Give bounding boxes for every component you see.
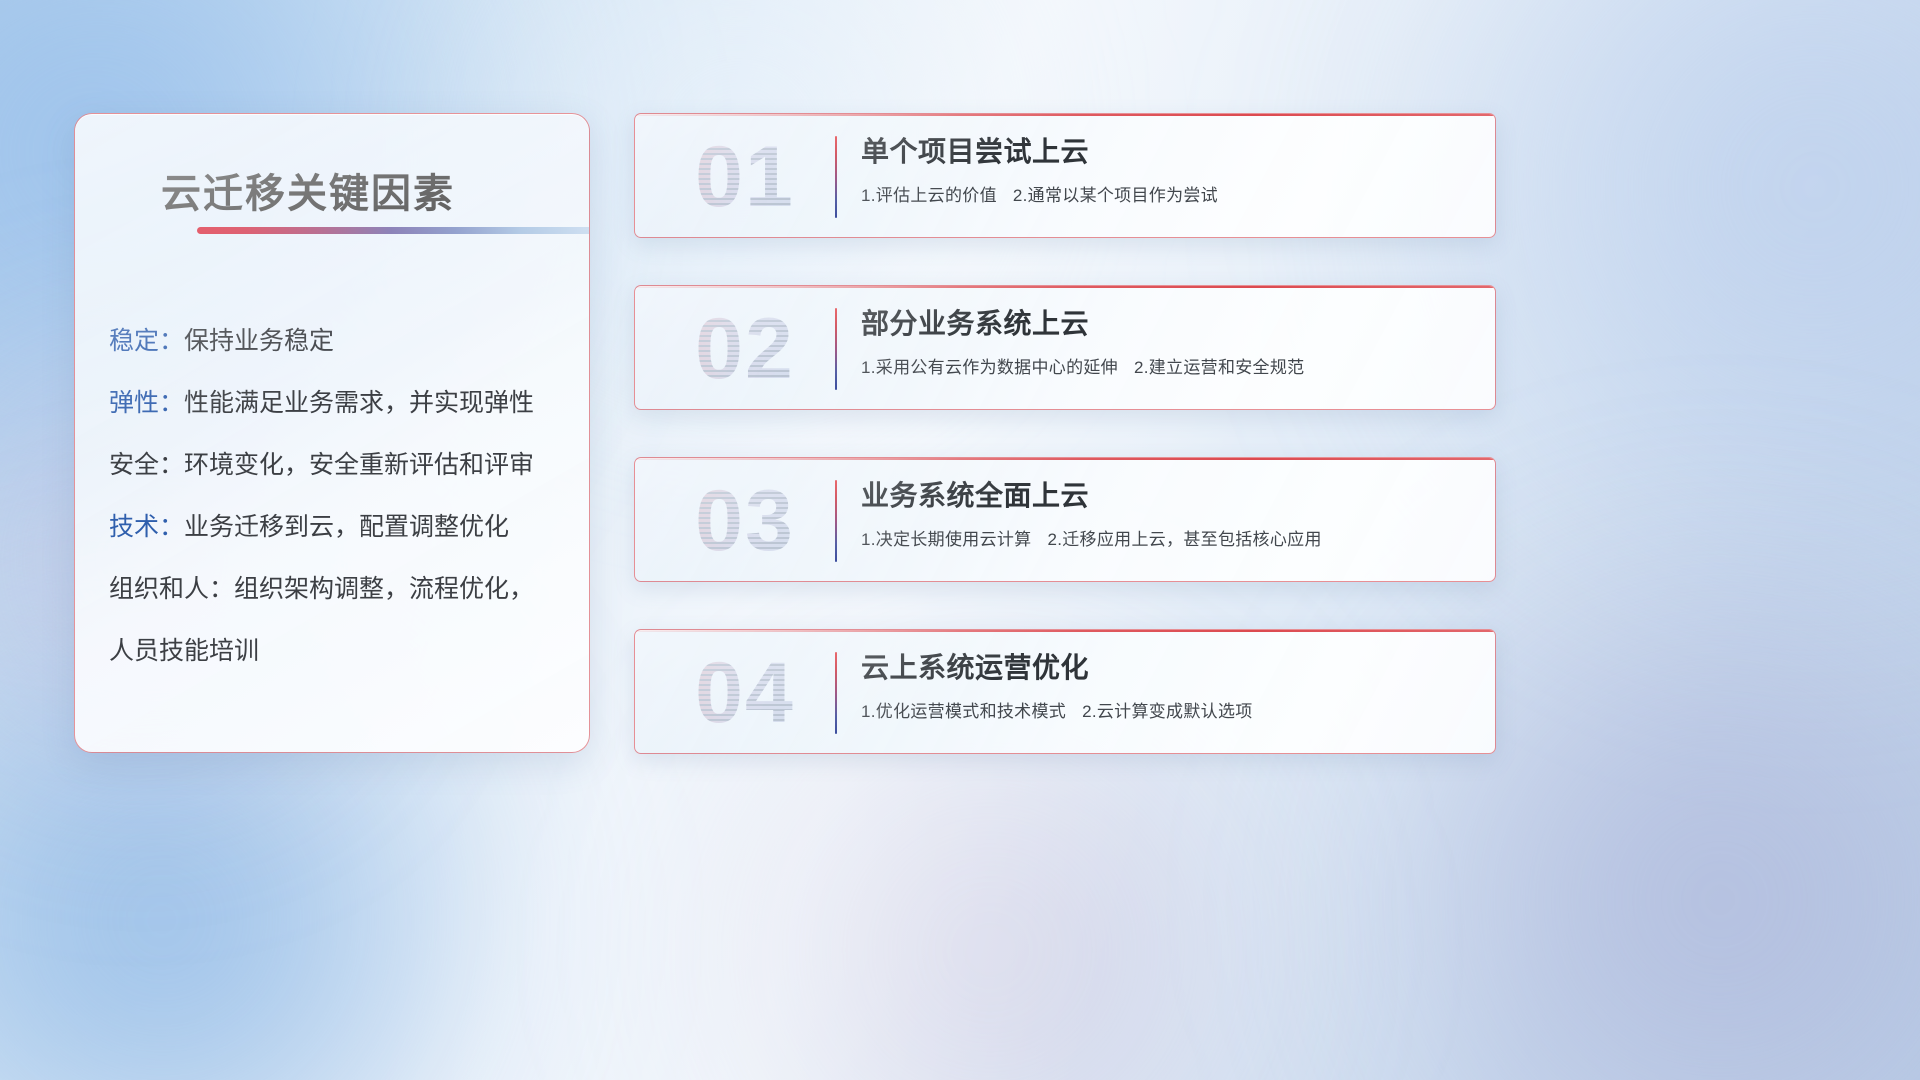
step-body-04: 云上系统运营优化 1.优化运营模式和技术模式2.云计算变成默认选项 [861, 646, 1471, 725]
step-card-01[interactable]: 01 单个项目尝试上云 1.评估上云的价值2.通常以某个项目作为尝试 [634, 113, 1496, 238]
step-title-04: 云上系统运营优化 [861, 646, 1471, 690]
factor-row: 稳定：保持业务稳定 [109, 310, 553, 372]
step-desc-03: 1.决定长期使用云计算2.迁移应用上云，甚至包括核心应用 [861, 527, 1471, 553]
step-card-04[interactable]: 04 云上系统运营优化 1.优化运营模式和技术模式2.云计算变成默认选项 [634, 629, 1496, 754]
title-underline-gradient [197, 227, 590, 234]
factor-label: 稳定： [109, 327, 184, 355]
step-desc-02: 1.采用公有云作为数据中心的延伸2.建立运营和安全规范 [861, 355, 1471, 381]
step-desc-item-02-1: 1.采用公有云作为数据中心的延伸 [861, 358, 1118, 377]
step-desc-04: 1.优化运营模式和技术模式2.云计算变成默认选项 [861, 699, 1471, 725]
step-number-watermark-02: 02 [669, 300, 821, 398]
factor-label: 技术： [109, 513, 184, 541]
factor-label: 弹性： [109, 389, 184, 417]
factor-row: 弹性：性能满足业务需求，并实现弹性 [109, 372, 553, 434]
factor-text: 保持业务稳定 [184, 327, 334, 355]
factor-row: 技术：业务迁移到云，配置调整优化 [109, 496, 553, 558]
step-desc-item-01-2: 2.通常以某个项目作为尝试 [1013, 186, 1218, 205]
step-title-02: 部分业务系统上云 [861, 302, 1471, 346]
step-desc-item-03-1: 1.决定长期使用云计算 [861, 530, 1031, 549]
step-divider-01 [835, 136, 837, 218]
step-desc-item-01-1: 1.评估上云的价值 [861, 186, 997, 205]
step-body-02: 部分业务系统上云 1.采用公有云作为数据中心的延伸2.建立运营和安全规范 [861, 302, 1471, 381]
step-body-01: 单个项目尝试上云 1.评估上云的价值2.通常以某个项目作为尝试 [861, 130, 1471, 209]
step-desc-item-04-1: 1.优化运营模式和技术模式 [861, 702, 1066, 721]
step-number-watermark-03: 03 [669, 472, 821, 570]
key-factors-list: 稳定：保持业务稳定弹性：性能满足业务需求，并实现弹性安全：环境变化，安全重新评估… [75, 310, 589, 682]
page-title: 云迁移关键因素 [161, 161, 455, 219]
factor-row: 安全：环境变化，安全重新评估和评审 [109, 434, 553, 496]
step-desc-item-04-2: 2.云计算变成默认选项 [1082, 702, 1252, 721]
factor-text: 人员技能培训 [109, 637, 259, 665]
step-card-03[interactable]: 03 业务系统全面上云 1.决定长期使用云计算2.迁移应用上云，甚至包括核心应用 [634, 457, 1496, 582]
step-desc-item-02-2: 2.建立运营和安全规范 [1134, 358, 1304, 377]
factor-row: 人员技能培训 [109, 620, 553, 682]
factor-label: 安全： [109, 451, 184, 479]
step-desc-01: 1.评估上云的价值2.通常以某个项目作为尝试 [861, 183, 1471, 209]
step-body-03: 业务系统全面上云 1.决定长期使用云计算2.迁移应用上云，甚至包括核心应用 [861, 474, 1471, 553]
step-card-02[interactable]: 02 部分业务系统上云 1.采用公有云作为数据中心的延伸2.建立运营和安全规范 [634, 285, 1496, 410]
step-divider-03 [835, 480, 837, 562]
factor-text: 性能满足业务需求，并实现弹性 [184, 389, 534, 417]
step-title-03: 业务系统全面上云 [861, 474, 1471, 518]
factor-text: 组织架构调整，流程优化， [234, 575, 534, 603]
factor-text: 业务迁移到云，配置调整优化 [184, 513, 509, 541]
slide-stage: 云迁移关键因素 稳定：保持业务稳定弹性：性能满足业务需求，并实现弹性安全：环境变… [0, 0, 1920, 1080]
factor-text: 环境变化，安全重新评估和评审 [184, 451, 534, 479]
step-divider-02 [835, 308, 837, 390]
key-factors-panel: 云迁移关键因素 稳定：保持业务稳定弹性：性能满足业务需求，并实现弹性安全：环境变… [74, 113, 590, 753]
factor-label: 组织和人： [109, 575, 234, 603]
step-number-watermark-04: 04 [669, 644, 821, 742]
step-number-watermark-01: 01 [669, 128, 821, 226]
step-title-01: 单个项目尝试上云 [861, 130, 1471, 174]
factor-row: 组织和人：组织架构调整，流程优化， [109, 558, 553, 620]
step-divider-04 [835, 652, 837, 734]
step-desc-item-03-2: 2.迁移应用上云，甚至包括核心应用 [1047, 530, 1321, 549]
